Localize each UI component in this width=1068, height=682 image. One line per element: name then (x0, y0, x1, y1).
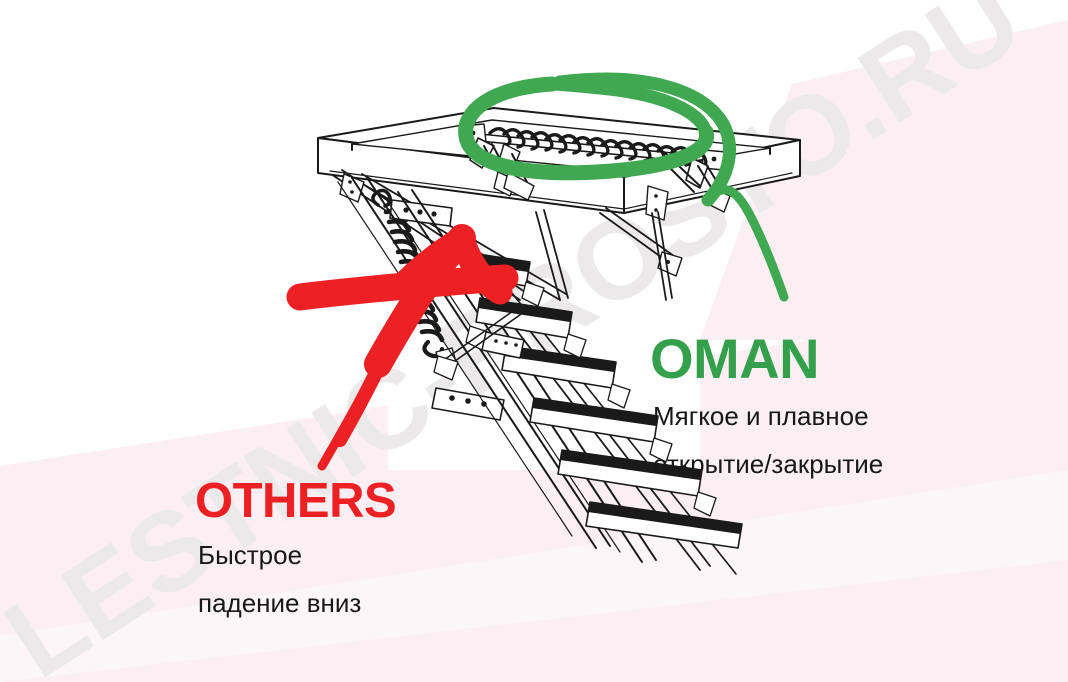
oman-title: OMAN (650, 331, 883, 387)
others-callout: OTHERS Быстрое падение вниз (195, 477, 396, 622)
comparison-infographic: LESTNIC-PROSTO.RU (0, 0, 1068, 682)
oman-description-line-2: открытие/закрытие (653, 446, 883, 483)
oman-description-line-1: Мягкое и плавное (653, 398, 883, 435)
others-title: OTHERS (195, 477, 396, 526)
oman-callout: OMAN Мягкое и плавное открытие/закрытие (650, 331, 883, 483)
others-description-line-1: Быстрое (198, 537, 396, 574)
callout-layer: OMAN Мягкое и плавное открытие/закрытие … (0, 0, 1068, 682)
others-description-line-2: падение вниз (198, 585, 396, 622)
